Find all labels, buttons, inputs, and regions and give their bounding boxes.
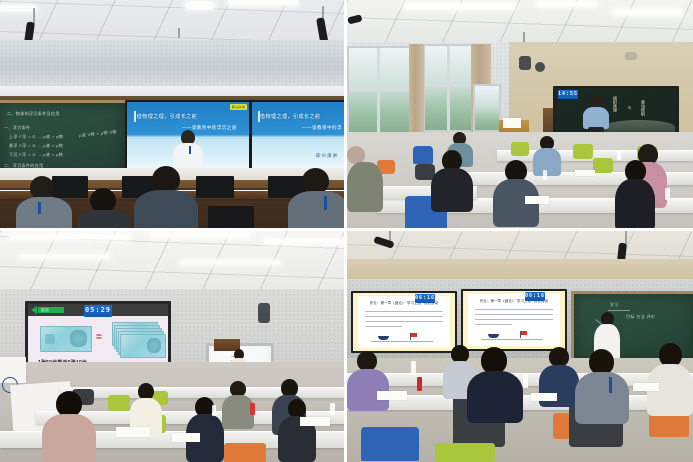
torso [615,179,655,228]
notebook [575,170,595,176]
notebook [300,417,330,426]
ceiling-light [612,10,682,15]
chair [573,144,593,159]
torso [134,190,198,228]
chalkboard-formula1: 上浮 F浮 > G → ρ液 > ρ物 [9,134,63,140]
attendee [186,397,224,461]
display-title-line1: 组织原理 [613,96,618,112]
ceiling [347,0,693,48]
back-arrow-icon[interactable] [31,306,37,314]
torso [42,414,96,462]
slide-text-line [365,311,442,312]
attendee [493,160,539,226]
notebook [116,427,150,437]
wall-speaker [519,56,531,70]
slide-text-line [365,326,402,327]
water-bottle [665,188,670,200]
window-mullion [377,48,380,134]
presenter-lanyard [189,146,191,154]
display-title-line3: 驱动修帆 [641,100,646,116]
path-wave [371,341,433,342]
window-mullion [425,84,473,87]
slide-text-line [365,316,442,317]
audience-member [134,166,198,228]
audience-member [16,176,72,228]
projection-screen-right: 作业：第一章《绪论》"学习之旅" 规划活动 06:16 [461,289,567,351]
chalk-stroke [608,310,630,311]
wall-texture [0,40,344,92]
water-bottle [212,405,216,416]
photo-panel-top-left: 二、物体的浮沉条件及应用 一、浮力条件 上浮 F浮 > G → ρ液 > ρ物 … [0,0,347,231]
photo-top-left-scene: 二、物体的浮沉条件及应用 一、浮力条件 上浮 F浮 > G → ρ液 > ρ物 … [0,0,344,228]
photo-panel-bottom-left: 返回 05:29 = 1张50元等于5张10元 [0,231,347,462]
ceiling-light [0,6,36,11]
window-mullion [447,46,450,130]
water-bottle [523,375,528,388]
notebook [172,433,200,442]
monitor [208,206,254,228]
slide-right: 借物理之理，引成长之舵 ——谈教育中的浮 即兴演讲 [252,102,344,170]
window-small [473,84,501,132]
photo-collage: 二、物体的浮沉条件及应用 一、浮力条件 上浮 F浮 > G → ρ液 > ρ物 … [0,0,693,462]
ceiling-light [405,4,515,9]
chalkboard-line1: 一、浮力条件 [4,125,30,131]
chalkboard-heading: 二、物体的浮沉条件及应用 [7,111,60,117]
head [481,347,507,374]
window [347,46,413,136]
chair [593,158,613,173]
slide-text-line [365,321,442,322]
window [423,44,475,132]
lanyard [324,196,327,210]
audience-member [288,168,344,228]
slide-heading-left: 作业：第一章《绪论》"学习之旅" 规划活动 [358,300,450,305]
beverage-bottle [417,377,422,391]
countdown-timer: 06:16 [415,294,435,303]
display-title-line2: 与 [627,106,632,110]
projection-screen-right: 借物理之理，引成长之舵 ——谈教育中的浮 即兴演讲 [250,100,344,172]
projector-mount [625,52,637,60]
slide-footer-right: 即兴演讲 [316,153,338,159]
slide-title-left: 借物理之理，引成长之舵 [137,113,242,121]
boat-icon [488,334,499,338]
attendee [575,349,629,423]
slide-subtitle-right: ——谈教育中的浮 [302,125,342,131]
torso [575,372,629,424]
slide-text-line [475,309,552,310]
curtain [409,44,424,134]
attendee [42,391,96,462]
chalkboard: 二、物体的浮沉条件及应用 一、浮力条件 上浮 F浮 > G → ρ液 > ρ物 … [0,100,128,178]
notebook [525,196,549,204]
chalkboard-formula3: 下沉 F浮 < G → ρ液 < ρ物 [9,152,63,158]
slide-text-line [475,324,512,325]
countdown-timer: 06:16 [525,292,545,301]
notebook [633,383,659,391]
head [152,166,180,193]
ceiling-light [537,2,597,6]
chair [224,443,266,462]
presenter [169,130,207,170]
ceiling-light [264,239,344,243]
ceiling-light [150,233,250,237]
chair [413,146,433,164]
attendee [278,399,316,461]
ceiling [0,231,344,297]
water-bottle [411,361,416,374]
ceiling-light [228,0,298,5]
slide-title-right: 借物理之理，引成长之舵 [260,113,344,121]
chalkboard-side-note: ρ液 V排 < ρ物 V物 [79,129,117,139]
beverage-bottle [250,403,255,415]
water-bottle [330,403,335,415]
chair [511,142,529,156]
photo-panel-top-right: 14:55 组织原理 与 驱动修帆 [347,0,693,231]
slide-left: 作业：第一章《绪论》"学习之旅" 规划活动 06:16 [353,293,455,351]
torso [288,191,344,228]
slide-heading-right: 作业：第一章《绪论》"学习之旅" 规划活动 [468,298,560,303]
slide-card: 作业：第一章《绪论》"学习之旅" 规划活动 [358,296,450,347]
chair [108,395,130,411]
banknote-50 [40,326,92,352]
ceiling-camera [535,62,545,72]
slide-tag-badge: 即兴演讲 [230,104,247,110]
chalkboard-note1: 学习 [610,302,619,308]
attendee [647,343,693,415]
slide-text-line [475,314,552,315]
attendee [431,150,473,212]
lanyard [38,202,41,214]
chalkboard-note2: 目标 方法 评价 [626,314,655,320]
attendee [467,347,523,421]
sensor-rod [178,28,180,38]
back-button-label: 返回 [41,308,49,313]
countdown-timer: 14:55 [558,90,578,99]
projection-screen-left: 作业：第一章《绪论》"学习之旅" 规划活动 06:16 [351,291,457,353]
chalkboard-formula2: 悬浮 F浮 = G → ρ液 = ρ物 [9,143,63,149]
ceiling-light [186,2,214,9]
torso [347,162,383,212]
banknote-emblem [45,334,55,345]
ceiling-light [20,255,110,258]
projection-screen-left: 即兴演讲 借物理之理，引成长之舵 ——谈教育中的浮沉之道 [125,100,251,172]
chair [361,427,419,461]
path-wave [481,339,543,340]
ceiling-light [10,235,130,239]
water-bottle [617,150,621,160]
chair [435,443,495,462]
upper-wall [0,40,344,92]
torso [467,371,523,423]
ceiling-grid [347,0,693,48]
audience-member [78,188,130,228]
boat-icon [378,336,389,340]
head [357,351,377,371]
lanyard [609,377,612,393]
attendee [347,146,383,212]
countdown-timer: 05:29 [84,305,112,317]
banknote-portrait [147,338,162,354]
wall-speaker [258,303,270,323]
photo-bottom-right-scene: 作业：第一章《绪论》"学习之旅" 规划活动 06:16 作业：第 [347,231,693,462]
slide-right: 作业：第一章《绪论》"学习之旅" 规划活动 06:16 [463,291,565,349]
ceiling-light [180,261,280,264]
notebook [531,393,557,401]
torso [431,168,473,212]
banknote-10-stack [120,334,166,358]
torso [347,369,389,411]
flag-icon [520,331,521,338]
flag-icon [410,333,411,340]
water-bottle [543,170,547,180]
torso [78,210,130,228]
notebook [377,391,407,400]
torso [583,107,609,129]
monitor [196,176,234,198]
photo-panel-bottom-right: 作业：第一章《绪论》"学习之旅" 规划活动 06:16 作业：第 [347,231,693,462]
lectern-paper [503,118,521,128]
window-mullion [349,88,411,91]
banknote-portrait [70,330,87,347]
head [549,347,569,367]
photo-top-right-scene: 14:55 组织原理 与 驱动修帆 [347,0,693,228]
attendee [615,160,655,228]
slide-card: 作业：第一章《绪论》"学习之旅" 规划活动 [468,294,560,345]
equals-sign: = [96,332,102,343]
torso [16,197,72,228]
attendee [347,351,389,411]
slide-text-line [475,319,552,320]
photo-bottom-left-scene: 返回 05:29 = 1张50元等于5张10元 [0,231,344,462]
